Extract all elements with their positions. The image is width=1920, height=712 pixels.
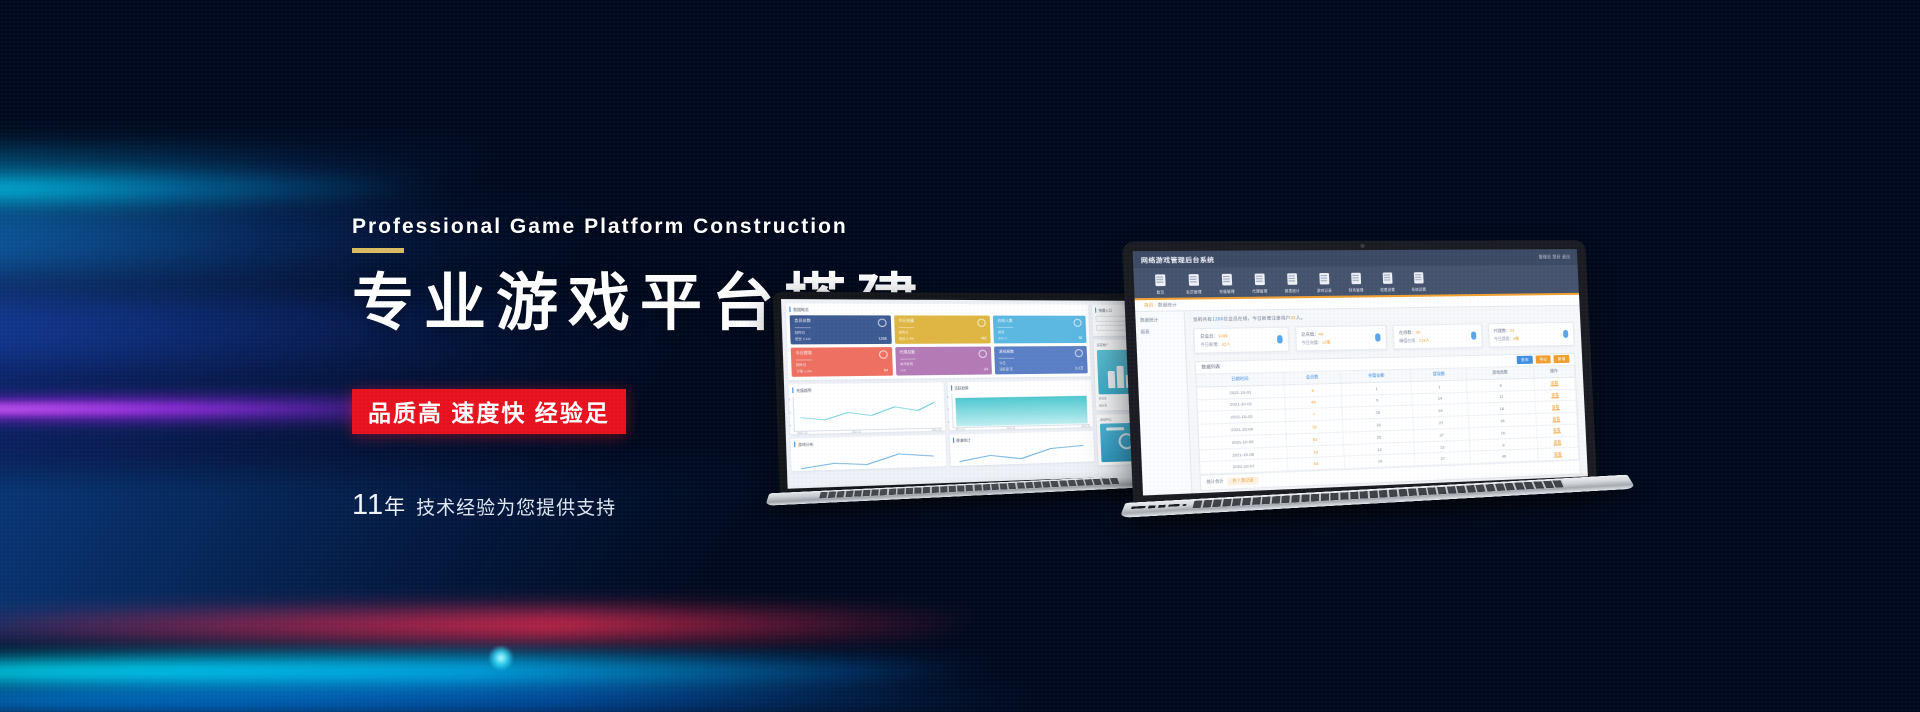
small-chart-panel-2: 渠道统计	[949, 431, 1094, 466]
card-line1-label: 总会员：	[1200, 333, 1218, 339]
breadcrumb-home[interactable]: 首页	[1144, 302, 1154, 309]
years-unit: 年	[384, 496, 406, 519]
y-tick: 8	[789, 399, 791, 402]
document-icon	[1188, 274, 1199, 286]
col-header-label: 提现额	[1433, 371, 1445, 376]
query-button[interactable]: 查询	[1517, 356, 1533, 365]
card-line1-value: 1286	[1218, 333, 1228, 338]
illus-bar	[1116, 365, 1124, 387]
laptop-rear-lid: 数据概览 会员总数较昨日增长 2.1% 1286 今日充值较昨日增长 5.4% …	[773, 291, 1168, 499]
webcam-icon	[1360, 244, 1364, 248]
toolbar-label: 游戏记录	[1317, 287, 1332, 292]
tile-icon	[1075, 349, 1083, 357]
card-line2-label: 今日充值：	[1301, 340, 1322, 345]
card-line1-label: 在线数：	[1399, 330, 1416, 335]
data-panel-title: 数据列表	[1201, 364, 1220, 371]
stat-tile[interactable]: 今日提现较昨日下降 1.2% 64	[791, 347, 893, 377]
breadcrumb-current: 数据统计	[1158, 302, 1177, 309]
admin-body: 数据统计 报表 当前共有1286位会员在线，今日新增注册用户32人。 总会员：1…	[1135, 306, 1588, 496]
alert-suffix: 人。	[1296, 315, 1306, 320]
tile-sub: 较昨日	[898, 326, 914, 333]
data-panel-actions: 查询 导出 新增	[1517, 355, 1570, 364]
tile-title: 今日提现	[795, 351, 812, 356]
card-line2-label: 峰值在线：	[1399, 338, 1419, 342]
toolbar-item-recharge[interactable]: 充值管理	[1210, 274, 1244, 294]
tile-note: 增长 2.1%	[795, 337, 812, 341]
line-chart-plot: 8 6 4 2021-10 2021-11 2021-12	[792, 394, 941, 432]
tile-note: 增长 5.4%	[899, 336, 915, 340]
red-streak	[0, 612, 989, 638]
card-line1: 总充值：48	[1301, 331, 1330, 338]
stat-tile-grid: 会员总数较昨日增长 2.1% 1286 今日充值较昨日增长 5.4% 482 在…	[790, 315, 1088, 377]
document-icon	[1287, 274, 1297, 286]
card-line2: 峰值在线：218人	[1399, 338, 1429, 344]
card-line1-value: 48	[1318, 331, 1323, 336]
stat-card[interactable]: 总充值：48 今日充值：12笔	[1294, 325, 1387, 351]
tile-note: 218 人	[998, 336, 1013, 340]
col-header-label: 充值金额	[1368, 373, 1385, 379]
illus-bar	[1108, 370, 1116, 387]
document-icon	[1319, 273, 1329, 284]
tile-icon	[1073, 319, 1081, 327]
footer-label: 统计合计	[1206, 480, 1223, 486]
alert-count: 1286	[1212, 316, 1223, 321]
laptop-front-lid: 网络游戏管理后台系统 管理员 您好 退出 首页 会员管理 充值管理 代理管理 报…	[1122, 240, 1597, 510]
sidebar-item-stats[interactable]: 数据统计	[1140, 317, 1180, 324]
data-panel: 数据列表 查询 导出 新增 日期时间	[1195, 352, 1581, 491]
glow-dot	[488, 645, 514, 671]
line-chart-panel: 充值趋势 8 6 4 2021-10 2021-11	[789, 382, 945, 434]
slogan-badge: 品质高 速度快 经验足	[352, 389, 626, 434]
panel-accent-bar	[794, 442, 796, 447]
gold-rule	[352, 248, 404, 253]
tile-value: 3.2万	[1075, 365, 1083, 370]
stat-card[interactable]: 在线数：96 峰值在线：218人	[1392, 323, 1482, 349]
stat-tile[interactable]: 游戏局数今日活跃度 高 3.2万	[994, 346, 1087, 374]
document-icon	[1382, 273, 1392, 284]
tile-title: 代理总数	[899, 350, 915, 355]
document-icon	[1221, 274, 1231, 286]
admin-sidebar: 数据统计 报表	[1135, 311, 1192, 495]
card-line2: 今日新增：32人	[1200, 342, 1230, 348]
card-line1-label: 总充值：	[1301, 331, 1318, 337]
stat-card[interactable]: 总会员：1286 今日新增：32人	[1193, 327, 1289, 354]
magenta-streak-core	[0, 404, 353, 414]
card-icon	[1276, 335, 1282, 343]
y-tick: 4	[948, 421, 950, 424]
tile-value: 482	[981, 336, 987, 340]
card-line2: 今日提现：8笔	[1494, 336, 1519, 342]
toolbar-item-home[interactable]: 首页	[1143, 275, 1178, 295]
overview-title: 数据概览	[793, 307, 809, 312]
chart-row-2: 游戏分布 渠道统计	[791, 431, 1095, 471]
panel-accent-bar	[950, 385, 952, 390]
tile-note: 活跃度 高	[999, 367, 1014, 371]
toolbar-item-members[interactable]: 会员管理	[1176, 274, 1210, 294]
card-line2-value: 12笔	[1322, 340, 1331, 344]
card-line1-value: 96	[1415, 329, 1420, 334]
line-chart-title: 充值趋势	[796, 387, 812, 393]
x-tick: 2021-12	[932, 429, 942, 432]
card-icon	[1563, 330, 1568, 338]
admin-ui: 网络游戏管理后台系统 管理员 您好 退出 首页 会员管理 充值管理 代理管理 报…	[1133, 249, 1588, 495]
side-stat-key: 留存率	[1099, 403, 1107, 407]
toolbar-label: 财务管理	[1349, 287, 1364, 292]
data-table: 日期时间 会员数 充值金额 提现额 游戏局数 操作	[1196, 365, 1579, 475]
document-icon	[1351, 273, 1361, 284]
blue-streak-bottom	[0, 686, 1050, 712]
panel-accent-bar	[952, 438, 954, 443]
toolbar-label: 会员管理	[1186, 289, 1202, 294]
admin-user-info[interactable]: 管理员 您好 退出	[1539, 254, 1571, 260]
laptop-front-ports	[1131, 502, 1195, 510]
card-line1: 在线数：96	[1399, 329, 1429, 336]
document-icon	[1254, 274, 1264, 286]
tile-sub: 峰值	[998, 326, 1013, 333]
toolbar-label: 充值管理	[1219, 288, 1235, 293]
tile-value: 64	[884, 368, 888, 372]
tile-value: 1286	[878, 337, 886, 341]
toolbar-label: 报表统计	[1285, 288, 1300, 293]
toolbar-label: 首页	[1156, 289, 1164, 294]
stat-card[interactable]: 代理数：24 今日提现：8笔	[1487, 322, 1574, 347]
panel-accent-bar	[1095, 308, 1097, 313]
overview-panel: 数据概览 会员总数较昨日增长 2.1% 1286 今日充值较昨日增长 5.4% …	[786, 303, 1091, 380]
card-icon	[1470, 331, 1475, 339]
sidebar-item-report[interactable]: 报表	[1140, 328, 1180, 335]
col-header-label: 会员数	[1306, 374, 1319, 380]
toolbar-item-perms[interactable]: 权限设置	[1371, 273, 1403, 292]
card-line1: 总会员：1286	[1200, 333, 1230, 340]
stat-card-row: 总会员：1286 今日新增：32人 总充值：48 今日充值：12笔	[1193, 322, 1574, 353]
card-line2-value: 32人	[1221, 342, 1230, 346]
dashboard-ui: 数据概览 会员总数较昨日增长 2.1% 1286 今日充值较昨日增长 5.4% …	[781, 299, 1161, 489]
panel-accent-bar	[789, 307, 791, 312]
banner-stage: Professional Game Platform Construction …	[0, 0, 1920, 712]
toolbar-label: 代理管理	[1252, 288, 1267, 293]
quick-entry-title: 快捷入口	[1098, 308, 1112, 313]
card-line2-label: 今日提现：	[1494, 337, 1513, 341]
laptop-front-screen: 网络游戏管理后台系统 管理员 您好 退出 首页 会员管理 充值管理 代理管理 报…	[1133, 249, 1588, 495]
toolbar-label: 权限设置	[1380, 287, 1395, 292]
laptop-front-trackpad-notch	[1370, 499, 1396, 503]
card-line2: 今日充值：12笔	[1301, 340, 1330, 346]
laptop-front: 网络游戏管理后台系统 管理员 您好 退出 首页 会员管理 充值管理 代理管理 报…	[1128, 236, 1661, 559]
area-chart-title: 活跃趋势	[954, 385, 969, 390]
toolbar-item-settings[interactable]: 系统设置	[1402, 272, 1434, 291]
tile-value: 24	[984, 367, 988, 371]
add-button[interactable]: 新增	[1554, 355, 1570, 364]
panel-accent-bar	[792, 388, 794, 393]
tile-value: 96	[1078, 336, 1082, 340]
y-tick: 6	[948, 408, 950, 411]
stat-tile[interactable]: 今日充值较昨日增长 5.4% 482	[894, 315, 991, 343]
x-tick: 2021-11	[852, 430, 862, 433]
tile-sub: 较昨日	[796, 359, 813, 367]
tile-title: 会员总数	[794, 319, 811, 324]
y-tick: 4	[789, 425, 791, 428]
card-icon	[1375, 333, 1381, 341]
col-header-label: 日期时间	[1231, 376, 1248, 382]
area-chart-panel: 活跃趋势	[947, 380, 1093, 430]
tile-title: 游戏局数	[999, 350, 1014, 355]
small-chart-panel-1: 游戏分布	[791, 435, 947, 471]
small-chart-1-svg	[794, 446, 942, 472]
card-line2-label: 今日新增：	[1200, 342, 1221, 347]
line-chart-svg	[794, 394, 942, 431]
illus-tag	[1106, 427, 1124, 430]
card-line2-value: 218人	[1419, 338, 1430, 342]
toolbar-item-logs[interactable]: 游戏记录	[1308, 273, 1341, 293]
laptop-rear-screen: 数据概览 会员总数较昨日增长 2.1% 1286 今日充值较昨日增长 5.4% …	[781, 299, 1161, 489]
tile-icon	[977, 319, 986, 327]
x-tick: 2021-11	[1006, 427, 1015, 430]
small-chart-1-title: 游戏分布	[798, 441, 814, 447]
admin-app-title: 网络游戏管理后台系统	[1141, 254, 1215, 264]
years-number: 11	[352, 489, 384, 521]
tile-note: +12	[900, 368, 916, 372]
area-chart-plot: 8 6 4 2021-10 2021-11 2021-12	[951, 392, 1090, 429]
y-tick: 6	[789, 411, 791, 414]
x-tick: 2021-10	[955, 428, 965, 431]
status-alert: 当前共有1286位会员在线，今日新增注册用户32人。	[1193, 311, 1574, 323]
laptop-rear-trackpad-notch	[966, 493, 988, 496]
document-icon	[1413, 272, 1423, 283]
x-tick: 2021-10	[797, 432, 807, 435]
area-chart-svg	[952, 392, 1090, 428]
dashboard-main: 数据概览 会员总数较昨日增长 2.1% 1286 今日充值较昨日增长 5.4% …	[781, 299, 1099, 489]
small-chart-2-svg	[953, 442, 1092, 467]
stat-tile[interactable]: 会员总数较昨日增长 2.1% 1286	[790, 315, 892, 344]
stat-tile[interactable]: 在线人数峰值218 人 96	[993, 316, 1086, 344]
admin-main: 当前共有1286位会员在线，今日新增注册用户32人。 总会员：1286 今日新增…	[1185, 306, 1588, 494]
y-tick: 8	[947, 396, 949, 399]
card-line2-value: 8笔	[1513, 336, 1519, 340]
alert-prefix: 当前共有	[1193, 316, 1213, 322]
x-tick: 2021-12	[1081, 425, 1090, 428]
card-line1: 代理数：24	[1494, 328, 1519, 335]
cyan-streak-bottom	[0, 655, 1001, 689]
overview-header: 数据概览	[789, 307, 1085, 313]
tile-icon	[878, 350, 887, 359]
document-icon	[1154, 275, 1165, 287]
eyebrow-text: Professional Game Platform Construction	[352, 215, 1112, 239]
side-stat-key: 转化率	[1099, 396, 1107, 400]
tile-icon	[979, 350, 988, 358]
chart-row: 充值趋势 8 6 4 2021-10 2021-11	[789, 380, 1093, 434]
tile-sub: 本月新增	[900, 358, 916, 366]
footer-value: 共 7 条记录	[1228, 477, 1258, 486]
alert-mid: 位会员在线，今日新增注册用户	[1223, 315, 1290, 321]
toolbar-item-agents[interactable]: 代理管理	[1243, 274, 1276, 294]
tile-sub: 较昨日	[795, 327, 812, 335]
tile-title: 今日充值	[898, 319, 914, 324]
years-tail: 技术经验为您提供支持	[416, 498, 616, 519]
toolbar-item-reports[interactable]: 报表统计	[1275, 273, 1308, 293]
cell-action[interactable]: 查看	[1537, 448, 1579, 461]
toolbar-label: 系统设置	[1411, 286, 1426, 291]
card-line1-label: 代理数：	[1494, 328, 1510, 333]
tile-note: 下降 1.2%	[796, 369, 813, 373]
tile-title: 在线人数	[997, 319, 1012, 324]
cyan-streak-top	[0, 176, 448, 202]
tile-icon	[877, 319, 886, 327]
toolbar-item-finance[interactable]: 财务管理	[1340, 273, 1373, 292]
tile-sub: 今日	[999, 357, 1014, 364]
stat-tile[interactable]: 代理总数本月新增+12 24	[895, 347, 992, 376]
export-button[interactable]: 导出	[1535, 355, 1551, 364]
small-chart-2-title: 渠道统计	[956, 437, 971, 443]
card-line1-value: 24	[1510, 328, 1515, 333]
